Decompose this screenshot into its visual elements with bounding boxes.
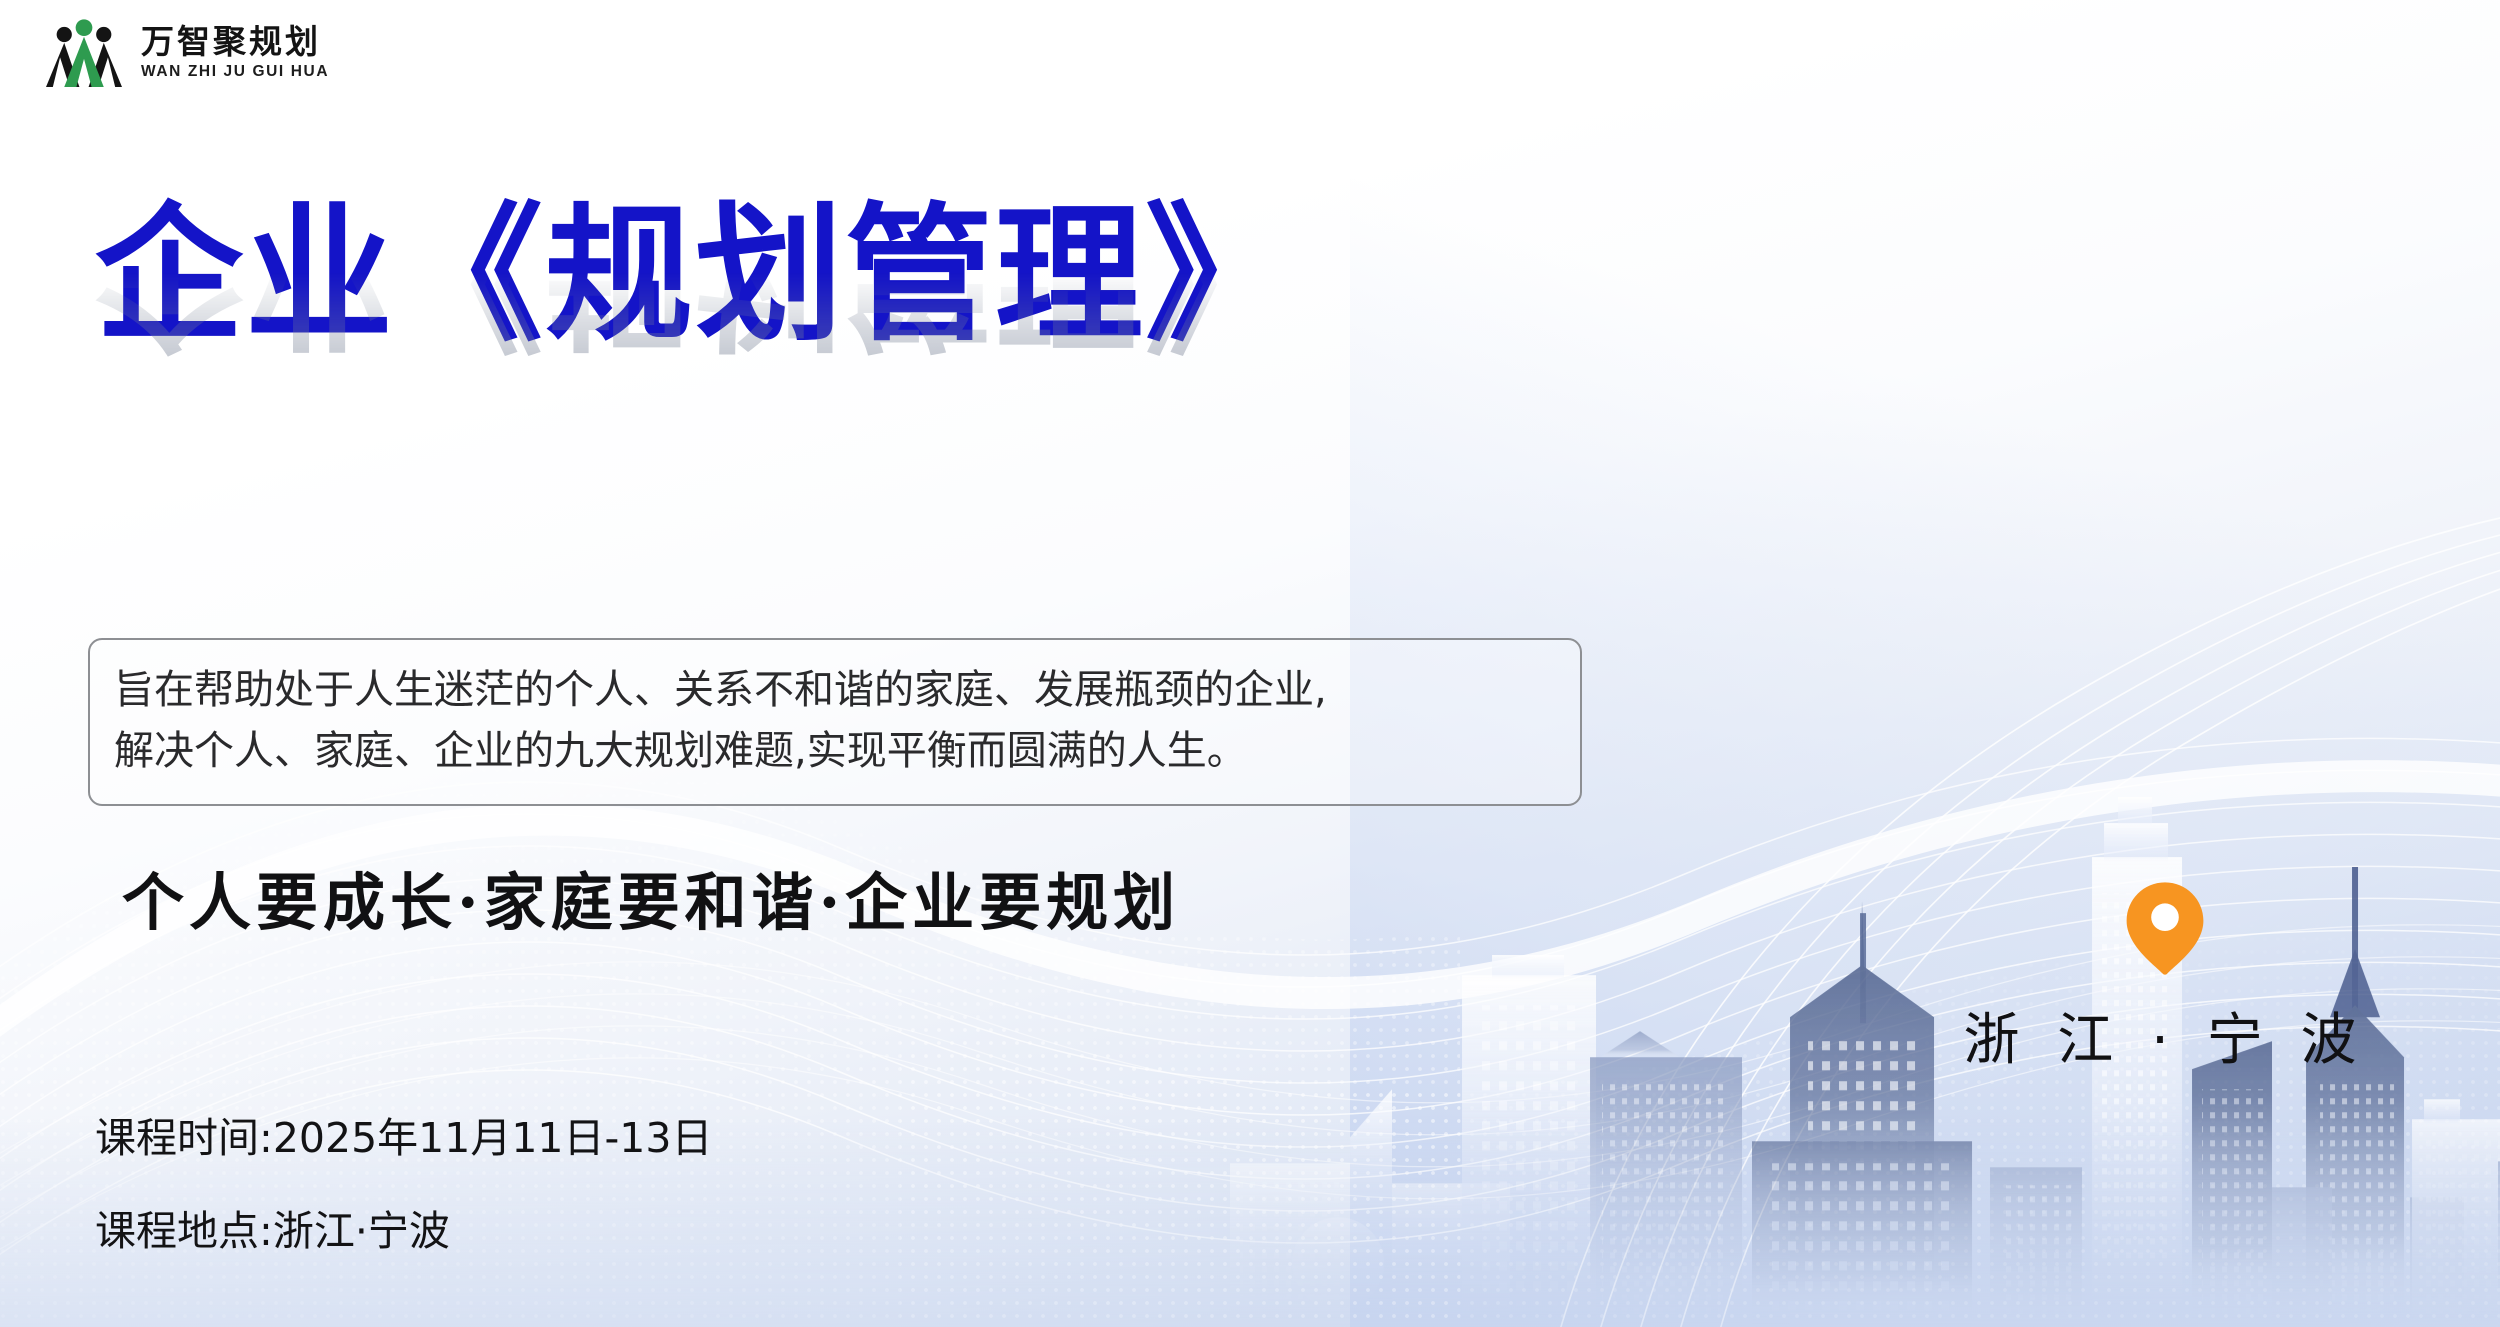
three-people-m-logo-icon bbox=[45, 14, 123, 90]
description-line-2: 解决个人、家庭、企业的九大规划难题,实现平衡而圆满的人生。 bbox=[114, 721, 1554, 782]
location-block: 浙 江 · 宁 波 bbox=[1955, 880, 2375, 1076]
hero-title-block: 企业《规划管理》 企业《规划管理》 bbox=[95, 196, 1295, 450]
slogan-text: 个人要成长·家庭要和谐·企业要规划 bbox=[122, 852, 1180, 942]
course-place: 课程地点:浙江·宁波 bbox=[95, 1211, 712, 1252]
map-pin-icon bbox=[2126, 880, 2204, 976]
course-meta: 课程时间:2025年11月11日-13日 课程地点:浙江·宁波 bbox=[95, 1118, 712, 1252]
course-time: 课程时间:2025年11月11日-13日 bbox=[95, 1118, 712, 1159]
brand-logo[interactable]: 万智聚规划 WAN ZHI JU GUI HUA bbox=[45, 14, 329, 90]
page-title-reflection: 企业《规划管理》 bbox=[95, 266, 1295, 358]
location-label: 浙 江 · 宁 波 bbox=[1955, 995, 2375, 1076]
description-line-1: 旨在帮助处于人生迷茫的个人、关系不和谐的家庭、发展瓶颈的企业, bbox=[114, 660, 1554, 721]
description-box: 旨在帮助处于人生迷茫的个人、关系不和谐的家庭、发展瓶颈的企业, 解决个人、家庭、… bbox=[88, 638, 1582, 806]
brand-name-block: 万智聚规划 WAN ZHI JU GUI HUA bbox=[141, 25, 329, 80]
banner-canvas: 万智聚规划 WAN ZHI JU GUI HUA 企业《规划管理》 企业《规划管… bbox=[0, 0, 2500, 1327]
brand-name-cn: 万智聚规划 bbox=[141, 25, 329, 58]
brand-name-pinyin: WAN ZHI JU GUI HUA bbox=[141, 64, 329, 80]
